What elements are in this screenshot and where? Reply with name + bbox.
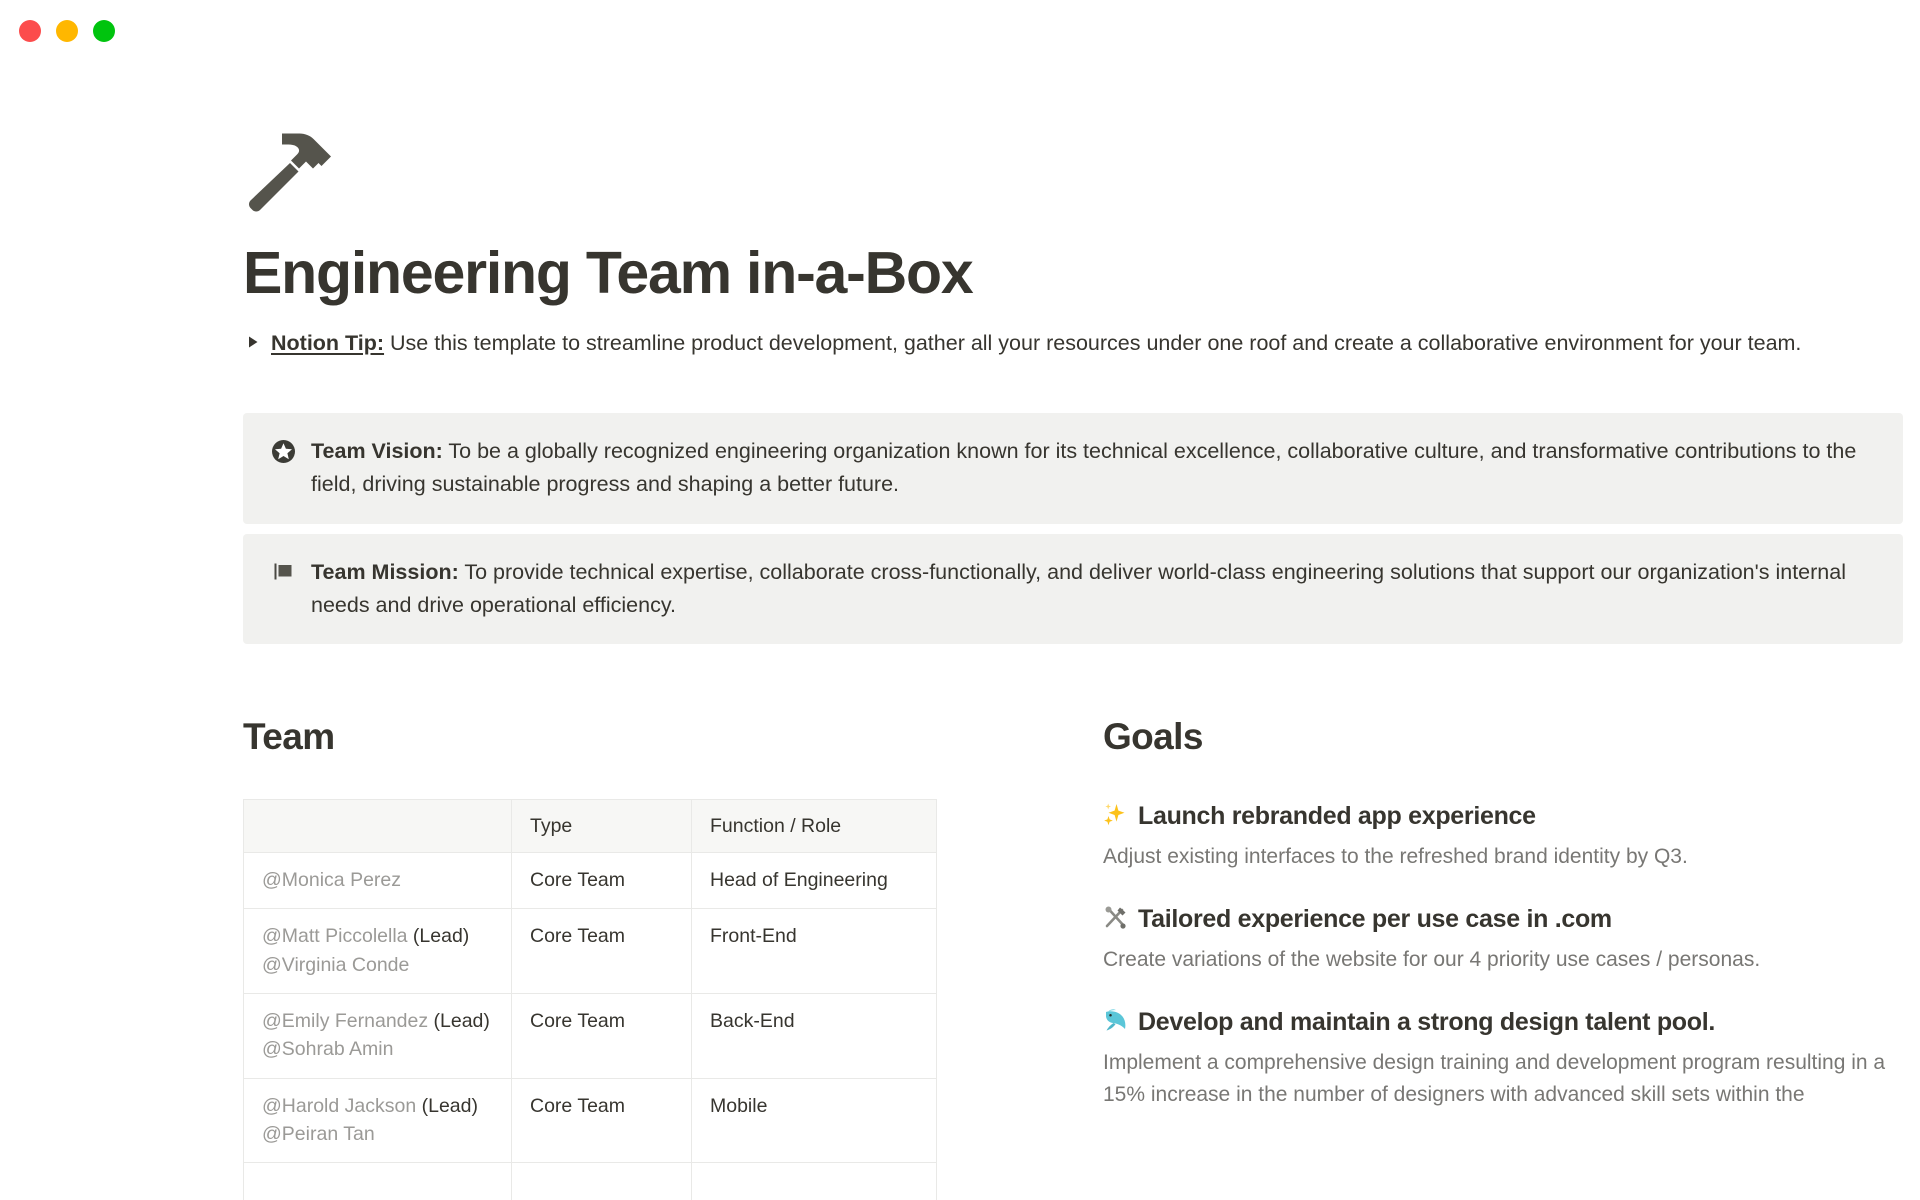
cell-members[interactable]: @Matt Piccolella (Lead)@Virginia Conde [244,909,512,994]
star-circle-icon [269,434,297,466]
dolphin-icon [1103,1008,1128,1033]
team-table-body: @Monica Perez Core Team Head of Engineer… [244,853,937,1200]
flag-icon [269,555,297,587]
hammer-and-wrench-icon [1103,905,1128,930]
team-vision-body: To be a globally recognized engineering … [311,439,1856,496]
member-lead-tag: (Lead) [408,925,470,947]
table-header-row: Type Function / Role [244,799,937,852]
team-mission-text: Team Mission: To provide technical exper… [311,555,1877,623]
goals-heading: Goals [1103,716,1903,759]
cell-role[interactable]: Mobile [692,1078,937,1163]
cell-type[interactable]: Core Team [512,994,692,1079]
goal-title: Develop and maintain a strong design tal… [1138,1006,1715,1040]
column-header-name[interactable] [244,799,512,852]
toggle-triangle-icon[interactable] [243,326,263,358]
column-header-role[interactable]: Function / Role [692,799,937,852]
goal-item: Launch rebranded app experience Adjust e… [1103,799,1903,872]
member-lead-tag: (Lead) [416,1095,478,1117]
team-column: Team Type Function / Role @Monica Perez … [243,716,1103,1200]
team-mission-label: Team Mission: [311,560,459,584]
team-table: Type Function / Role @Monica Perez Core … [243,799,937,1200]
goal-title: Tailored experience per use case in .com [1138,903,1612,937]
goals-list: Launch rebranded app experience Adjust e… [1103,799,1903,1110]
two-column-section: Team Type Function / Role @Monica Perez … [243,716,1903,1200]
goals-column: Goals Launch rebranded app exp [1103,716,1903,1200]
cell-type[interactable] [512,1163,692,1200]
member-mention[interactable]: @Virginia Conde [262,954,409,976]
team-heading: Team [243,716,1103,759]
page-content: Engineering Team in-a-Box Notion Tip: Us… [110,119,1810,1200]
table-row[interactable] [244,1163,937,1200]
goal-description: Implement a comprehensive design trainin… [1103,1047,1893,1110]
cell-role[interactable]: Front-End [692,909,937,994]
cell-role[interactable]: Head of Engineering [692,853,937,909]
team-mission-callout: Team Mission: To provide technical exper… [243,534,1903,645]
team-table-head: Type Function / Role [244,799,937,852]
table-row[interactable]: @Harold Jackson (Lead)@Peiran Tan Core T… [244,1078,937,1163]
table-row[interactable]: @Monica Perez Core Team Head of Engineer… [244,853,937,909]
member-lead-tag: (Lead) [428,1010,490,1032]
goal-spacer [1103,981,1903,1005]
goal-title-row: Launch rebranded app experience [1103,799,1903,834]
goal-description: Create variations of the website for our… [1103,944,1893,976]
team-mission-body: To provide technical expertise, collabor… [311,560,1846,617]
window-minimize-button[interactable] [56,20,78,42]
notion-tip-text: Notion Tip: Use this template to streaml… [271,326,1801,359]
team-vision-callout: Team Vision: To be a globally recognized… [243,413,1903,524]
member-mention[interactable]: @Sohrab Amin [262,1038,393,1060]
cell-members[interactable]: @Monica Perez [244,853,512,909]
member-mention[interactable]: @Emily Fernandez [262,1010,428,1032]
notion-tip-body: Use this template to streamline product … [384,331,1801,355]
notion-tip-label: Notion Tip: [271,331,384,355]
cell-role[interactable] [692,1163,937,1200]
window-title-bar [0,0,1920,62]
hammer-icon[interactable] [243,119,337,213]
table-row[interactable]: @Emily Fernandez (Lead)@Sohrab Amin Core… [244,994,937,1079]
window-maximize-button[interactable] [93,20,115,42]
document-page: Engineering Team in-a-Box Notion Tip: Us… [0,62,1920,1200]
column-header-type[interactable]: Type [512,799,692,852]
page-title: Engineering Team in-a-Box [243,241,1810,306]
goal-description: Adjust existing interfaces to the refres… [1103,841,1893,873]
goal-title-row: Tailored experience per use case in .com [1103,902,1903,937]
sparkles-icon [1103,802,1128,827]
team-vision-text: Team Vision: To be a globally recognized… [311,434,1877,502]
table-row[interactable]: @Matt Piccolella (Lead)@Virginia Conde C… [244,909,937,994]
cell-members[interactable]: @Emily Fernandez (Lead)@Sohrab Amin [244,994,512,1079]
member-mention[interactable]: @Harold Jackson [262,1095,416,1117]
cell-type[interactable]: Core Team [512,909,692,994]
cell-type[interactable]: Core Team [512,1078,692,1163]
goal-item: Develop and maintain a strong design tal… [1103,1005,1903,1110]
window-close-button[interactable] [19,20,41,42]
goal-title: Launch rebranded app experience [1138,800,1536,834]
notion-tip-toggle[interactable]: Notion Tip: Use this template to streaml… [243,326,1810,359]
goal-item: Tailored experience per use case in .com… [1103,902,1903,975]
member-mention[interactable]: @Monica Perez [262,869,401,891]
goal-spacer [1103,878,1903,902]
team-vision-label: Team Vision: [311,439,443,463]
cell-type[interactable]: Core Team [512,853,692,909]
cell-role[interactable]: Back-End [692,994,937,1079]
cell-members[interactable]: @Harold Jackson (Lead)@Peiran Tan [244,1078,512,1163]
member-mention[interactable]: @Peiran Tan [262,1123,375,1145]
goal-title-row: Develop and maintain a strong design tal… [1103,1005,1903,1040]
cell-members[interactable] [244,1163,512,1200]
member-mention[interactable]: @Matt Piccolella [262,925,408,947]
